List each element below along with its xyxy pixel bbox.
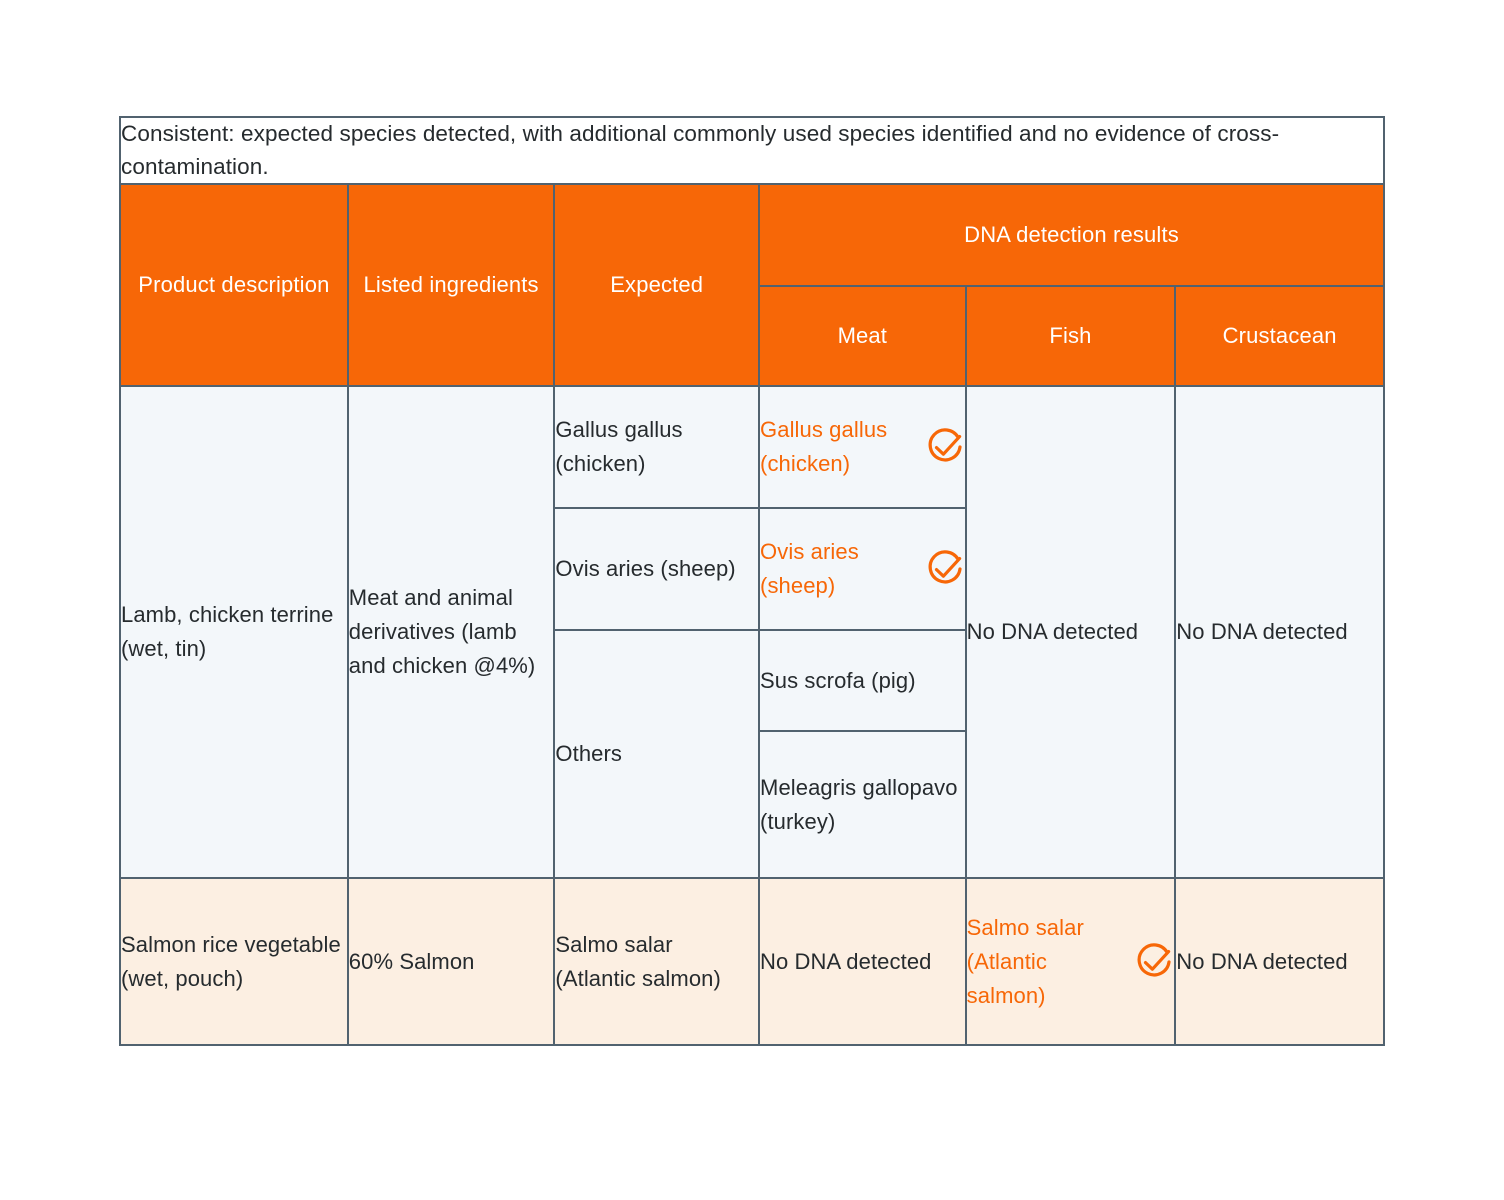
cell-expected: Salmo salar (Atlantic salmon): [554, 878, 759, 1045]
cell-meat-turkey: Meleagris gallopavo (turkey): [759, 731, 966, 878]
cell-listed-ingredients: 60% Salmon: [348, 878, 555, 1045]
column-header-crustacean: Crustacean: [1175, 286, 1384, 386]
column-header-product-description: Product description: [120, 184, 348, 386]
table-row: Salmon rice vegetable (wet, pouch) 60% S…: [120, 878, 1384, 1045]
table-row: Lamb, chicken terrine (wet, tin) Meat an…: [120, 386, 1384, 508]
header-row-primary: Product description Listed ingredients E…: [120, 184, 1384, 286]
cell-meat: No DNA detected: [759, 878, 966, 1045]
cell-fish: No DNA detected: [966, 386, 1176, 878]
column-header-dna-detection-results: DNA detection results: [759, 184, 1384, 286]
cell-expected-chicken: Gallus gallus (chicken): [554, 386, 759, 508]
column-header-expected: Expected: [554, 184, 759, 386]
dna-results-table: Consistent: expected species detected, w…: [119, 116, 1385, 1046]
column-header-meat: Meat: [759, 286, 966, 386]
cell-product-description: Lamb, chicken terrine (wet, tin): [120, 386, 348, 878]
cell-product-description: Salmon rice vegetable (wet, pouch): [120, 878, 348, 1045]
table-note-row: Consistent: expected species detected, w…: [120, 117, 1384, 184]
cell-meat-chicken: Gallus gallus (chicken): [759, 386, 966, 508]
cell-meat-sheep-label: Ovis aries (sheep): [760, 535, 915, 603]
check-circle-icon: [925, 427, 965, 467]
cell-expected-sheep: Ovis aries (sheep): [554, 508, 759, 630]
cell-fish: Salmo salar (Atlantic salmon): [966, 878, 1176, 1045]
check-circle-icon: [925, 549, 965, 589]
column-header-fish: Fish: [966, 286, 1176, 386]
cell-meat-pig: Sus scrofa (pig): [759, 630, 966, 731]
cell-meat-sheep: Ovis aries (sheep): [759, 508, 966, 630]
cell-fish-label: Salmo salar (Atlantic salmon): [967, 911, 1125, 1013]
page-root: Consistent: expected species detected, w…: [0, 0, 1504, 1200]
note-cell: Consistent: expected species detected, w…: [120, 117, 1384, 184]
note-text: Consistent: expected species detected, w…: [121, 118, 1383, 183]
column-header-listed-ingredients: Listed ingredients: [348, 184, 555, 386]
cell-meat-chicken-label: Gallus gallus (chicken): [760, 413, 915, 481]
check-circle-icon: [1134, 942, 1174, 982]
cell-crustacean: No DNA detected: [1175, 386, 1384, 878]
cell-crustacean: No DNA detected: [1175, 878, 1384, 1045]
cell-listed-ingredients: Meat and animal derivatives (lamb and ch…: [348, 386, 555, 878]
cell-expected-others: Others: [554, 630, 759, 878]
